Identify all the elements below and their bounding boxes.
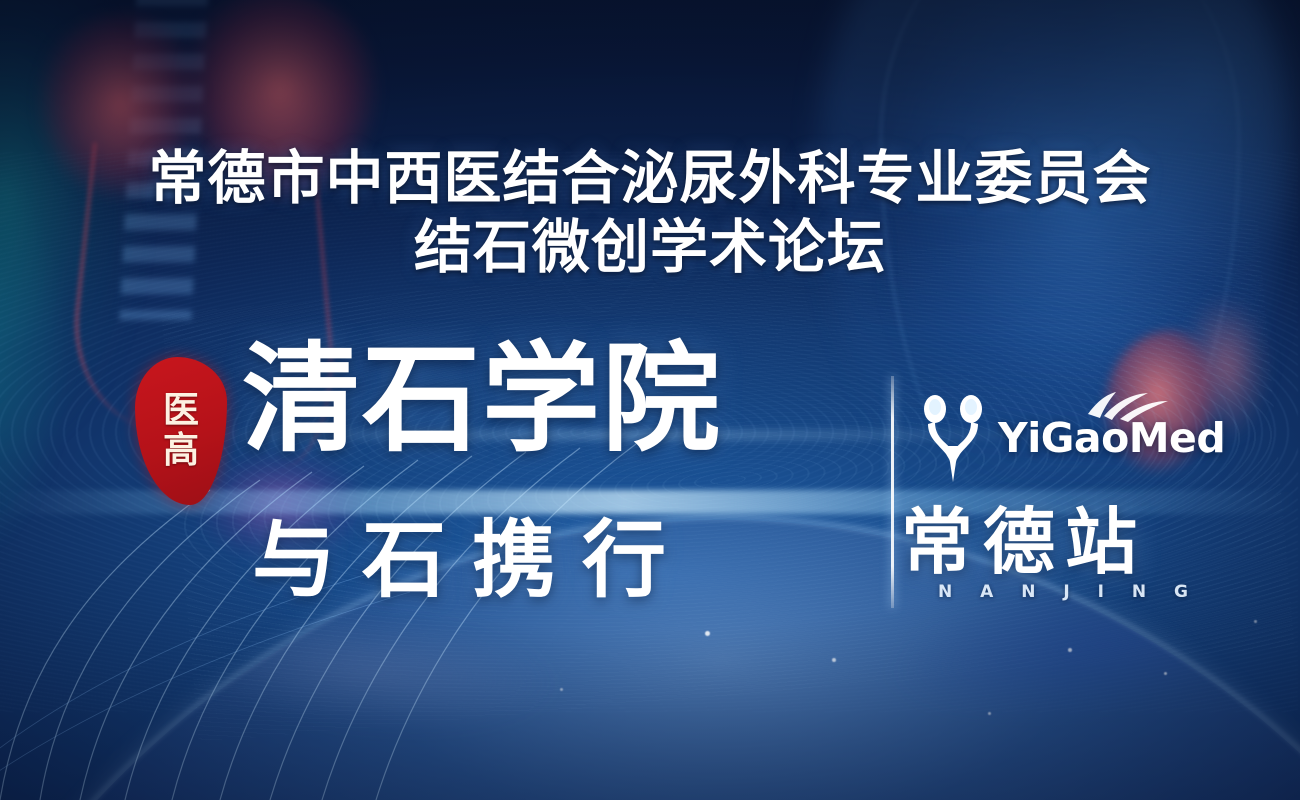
poster-content: 常德市中西医结合泌尿外科专业委员会 结石微创学术论坛 医 高 清石学院 与石携行	[0, 0, 1300, 800]
sponsor-wordmark-wrap: YiGaoMed	[998, 418, 1225, 459]
kidney-pen-logo-icon	[916, 392, 990, 484]
seal-characters: 医 高	[135, 357, 227, 505]
swoosh-icon	[1086, 390, 1170, 422]
station-name: 常德站	[901, 506, 1147, 578]
brand-name-main: 清石学院	[242, 340, 722, 458]
red-seal-badge: 医 高	[135, 357, 227, 505]
poster-title-line-1: 常德市中西医结合泌尿外科专业委员会	[0, 148, 1300, 209]
seal-char-bottom: 高	[163, 433, 199, 469]
poster-title-block: 常德市中西医结合泌尿外科专业委员会 结石微创学术论坛	[0, 148, 1300, 280]
vertical-divider	[891, 376, 894, 608]
poster-title-line-2: 结石微创学术论坛	[0, 215, 1300, 280]
brand-slogan: 与石携行	[252, 518, 692, 602]
sponsor-wordmark: YiGaoMed	[998, 418, 1225, 459]
sponsor-logo-block: YiGaoMed	[916, 392, 1225, 484]
conference-poster: 常德市中西医结合泌尿外科专业委员会 结石微创学术论坛 医 高 清石学院 与石携行	[0, 0, 1300, 800]
seal-char-top: 医	[163, 393, 199, 429]
station-pinyin: N A N J I N G	[938, 582, 1199, 602]
